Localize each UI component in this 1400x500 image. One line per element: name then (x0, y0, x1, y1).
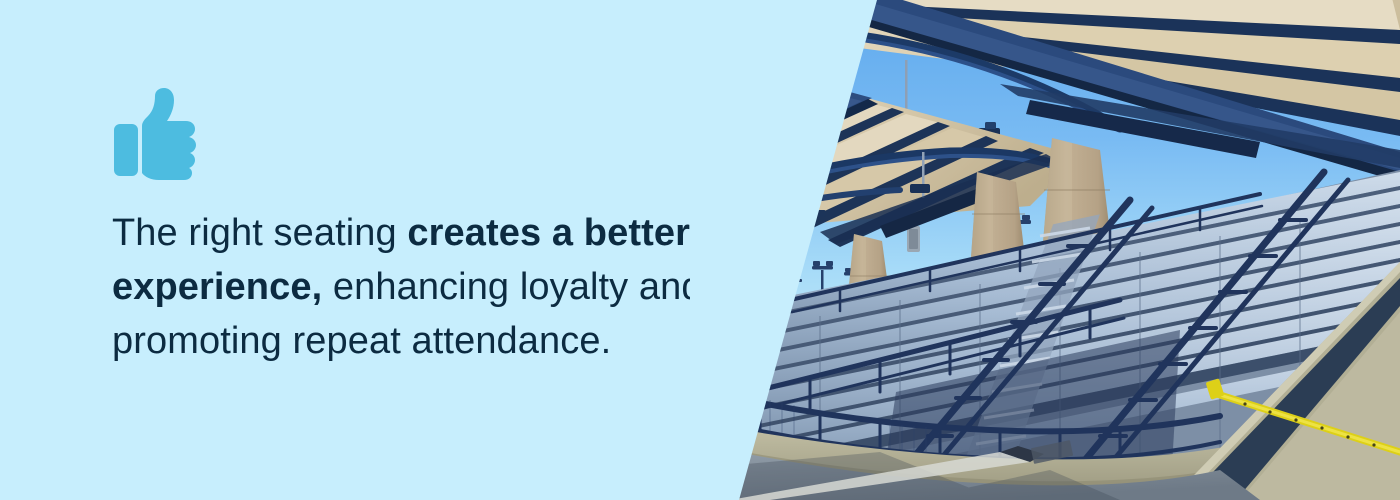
promo-banner: The right seating creates a better exper… (0, 0, 1400, 500)
headline: The right seating creates a better exper… (112, 206, 712, 368)
stadium-bleachers-photo (700, 0, 1400, 500)
thumbs-up-icon (112, 88, 208, 184)
headline-part-regular-1: The right seating (112, 212, 407, 254)
text-panel: The right seating creates a better exper… (0, 0, 690, 500)
